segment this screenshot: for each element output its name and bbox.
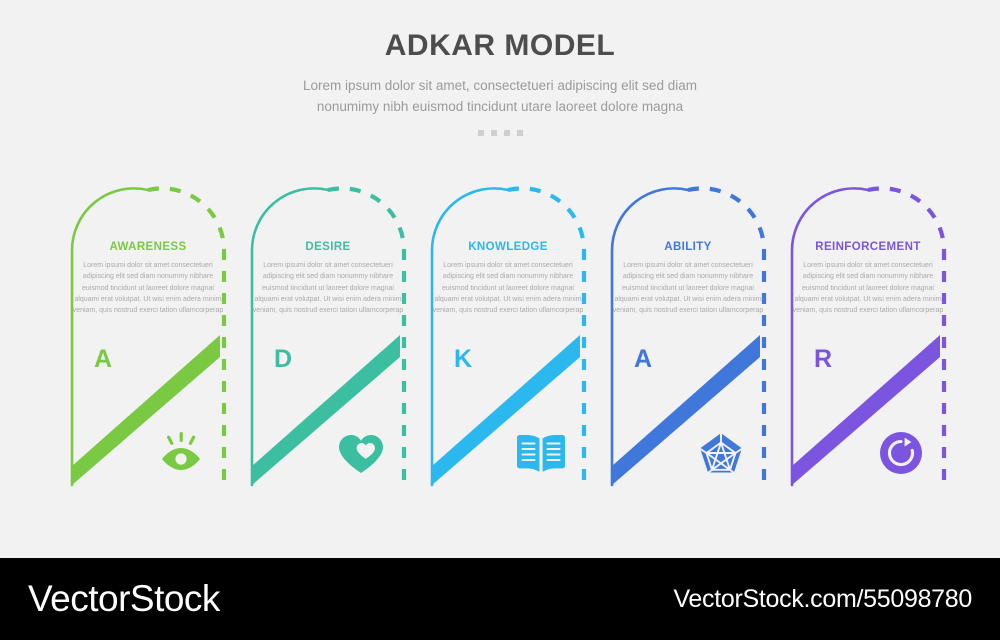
dot [478,130,484,136]
panel-letter: D [274,345,292,374]
panel-reinforcement[interactable]: REINFORCEMENTLorem ipsumi dolor sit amet… [778,185,958,485]
panel-title: REINFORCEMENT [788,241,948,253]
panel-title: AWARENESS [68,241,228,253]
page-subtitle: Lorem ipsum dolor sit amet, consectetuer… [290,76,710,118]
decorative-dots [0,130,1000,136]
panel-letter: A [94,345,112,374]
panel-letter: K [454,345,472,374]
heart-icon [335,430,387,476]
panel-body-text: Lorem ipsumi dolor sit amet consectetuer… [790,260,946,317]
watermark-bar: VectorStock VectorStock.com/55098780 [0,558,1000,640]
header: ADKAR MODEL Lorem ipsum dolor sit amet, … [0,28,1000,136]
panel-awareness[interactable]: AWARENESSLorem ipsumi dolor sit amet con… [58,185,238,485]
panel-letter: A [634,345,652,374]
panel-title: DESIRE [248,241,408,253]
panel-title: KNOWLEDGE [428,241,588,253]
panel-body-text: Lorem ipsumi dolor sit amet consectetuer… [250,260,406,317]
panel-body-text: Lorem ipsumi dolor sit amet consectetuer… [70,260,226,317]
infographic-canvas: ADKAR MODEL Lorem ipsum dolor sit amet, … [0,0,1000,640]
dot [517,130,523,136]
page-title: ADKAR MODEL [0,28,1000,64]
open-book-icon [515,430,567,476]
panel-body-text: Lorem ipsumi dolor sit amet consectetuer… [610,260,766,317]
dot [504,130,510,136]
dot [491,130,497,136]
panel-body-text: Lorem ipsumi dolor sit amet consectetuer… [430,260,586,317]
gem-pentagon-icon [695,430,747,476]
panel-letter: R [814,345,832,374]
panel-desire[interactable]: DESIRELorem ipsumi dolor sit amet consec… [238,185,418,485]
refresh-circle-icon [875,430,927,476]
panel-title: ABILITY [608,241,768,253]
watermark-brand: VectorStock [28,578,220,620]
watermark-url: VectorStock.com/55098780 [673,585,972,614]
panel-ability[interactable]: ABILITYLorem ipsumi dolor sit amet conse… [598,185,778,485]
panel-row: AWARENESSLorem ipsumi dolor sit amet con… [58,185,958,485]
eye-icon [155,430,207,476]
panel-knowledge[interactable]: KNOWLEDGELorem ipsumi dolor sit amet con… [418,185,598,485]
